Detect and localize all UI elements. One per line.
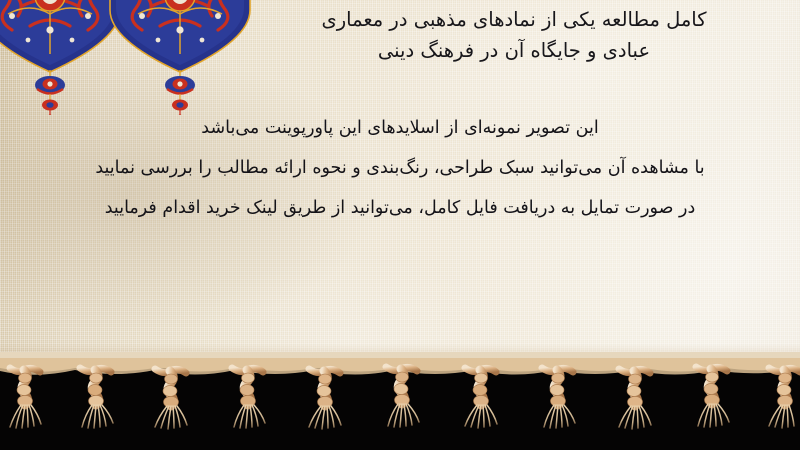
persian-illumination-medallion-icon	[0, 0, 260, 115]
body-line-2: با مشاهده آن می‌توانید سبک طراحی، رنگ‌بن…	[0, 148, 800, 188]
body-line-3: در صورت تمایل به دریافت فایل کامل، می‌تو…	[0, 188, 800, 228]
title-line-1: کامل مطالعه یکی از نمادهای مذهبی در معما…	[260, 4, 768, 35]
title-line-2: عبادی و جایگاه آن در فرهنگ دینی	[260, 35, 768, 66]
body-line-1: این تصویر نمونه‌ای از اسلایدهای این پاور…	[0, 108, 800, 148]
carpet-fringe	[0, 352, 800, 450]
slide-title: کامل مطالعه یکی از نمادهای مذهبی در معما…	[260, 4, 768, 66]
presentation-slide: کامل مطالعه یکی از نمادهای مذهبی در معما…	[0, 0, 800, 450]
slide-body: این تصویر نمونه‌ای از اسلایدهای این پاور…	[0, 108, 800, 228]
carpet-knotted-tassel-fringe-icon	[0, 352, 800, 450]
